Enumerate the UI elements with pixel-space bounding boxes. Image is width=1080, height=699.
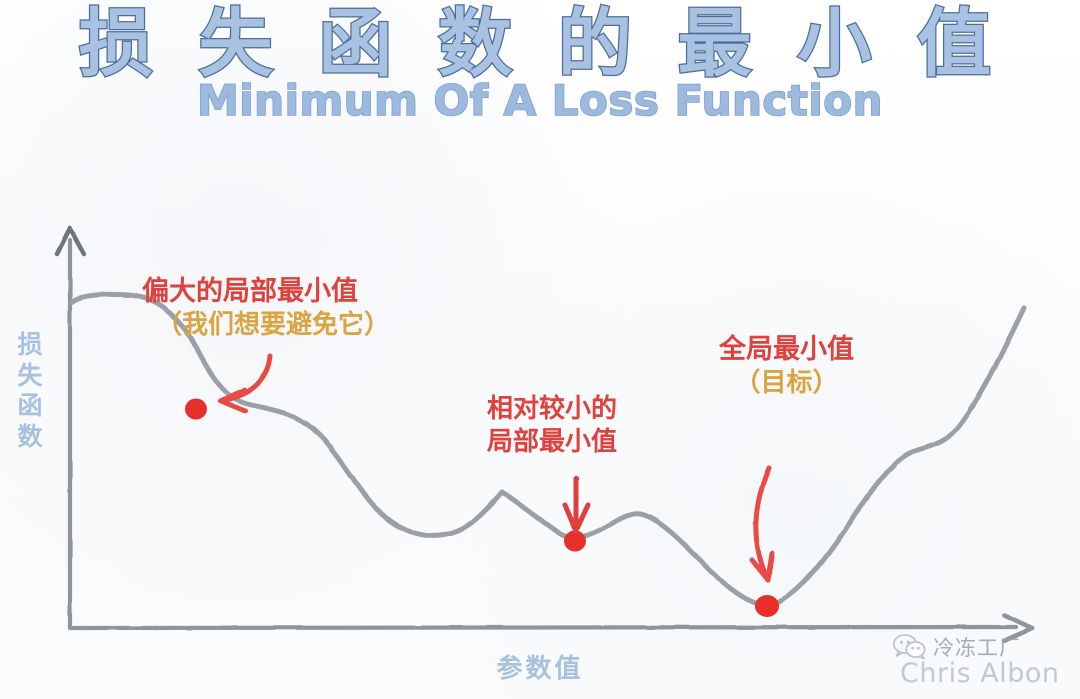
- y-axis-label-char-4: 数: [10, 422, 50, 453]
- straight-arrow-down-icon: [565, 478, 588, 531]
- annotation-3-line-2: （目标）: [719, 368, 854, 399]
- annotation-2-line-2: 局部最小值: [487, 427, 617, 458]
- y-axis-label-char-1: 损: [10, 330, 50, 361]
- author-signature: Chris Albon: [900, 658, 1059, 689]
- y-axis-label: 损 失 函 数: [10, 330, 50, 452]
- loss-function-plot: [0, 0, 1080, 699]
- annotation-lower-local-minimum: 相对较小的 局部最小值: [487, 394, 617, 457]
- annotation-1-line-1: 偏大的局部最小值: [142, 276, 358, 307]
- annotation-shallow-local-minimum: 偏大的局部最小值 （我们想要避免它）: [142, 276, 390, 341]
- marker-global-minimum: [755, 595, 779, 617]
- annotation-2-line-1: 相对较小的: [487, 394, 617, 424]
- minimum-markers: [185, 399, 779, 618]
- y-axis-label-char-3: 函: [10, 391, 50, 422]
- y-axis: [57, 228, 84, 628]
- y-axis-label-char-2: 失: [10, 361, 50, 392]
- annotation-3-line-1: 全局最小值: [719, 334, 854, 365]
- curved-arrow-down-icon: [752, 468, 772, 580]
- wechat-icon: [893, 634, 927, 660]
- diagram-canvas: 损 失 函 数 的 最 小 值 Minimum Of A Loss Functi…: [0, 0, 1080, 699]
- marker-shallow-local-minimum: [185, 399, 207, 420]
- annotation-global-minimum: 全局最小值 （目标）: [719, 334, 854, 399]
- x-axis: [70, 615, 1032, 641]
- annotation-1-line-2: （我们想要避免它）: [156, 310, 390, 341]
- marker-lower-local-minimum: [564, 531, 586, 552]
